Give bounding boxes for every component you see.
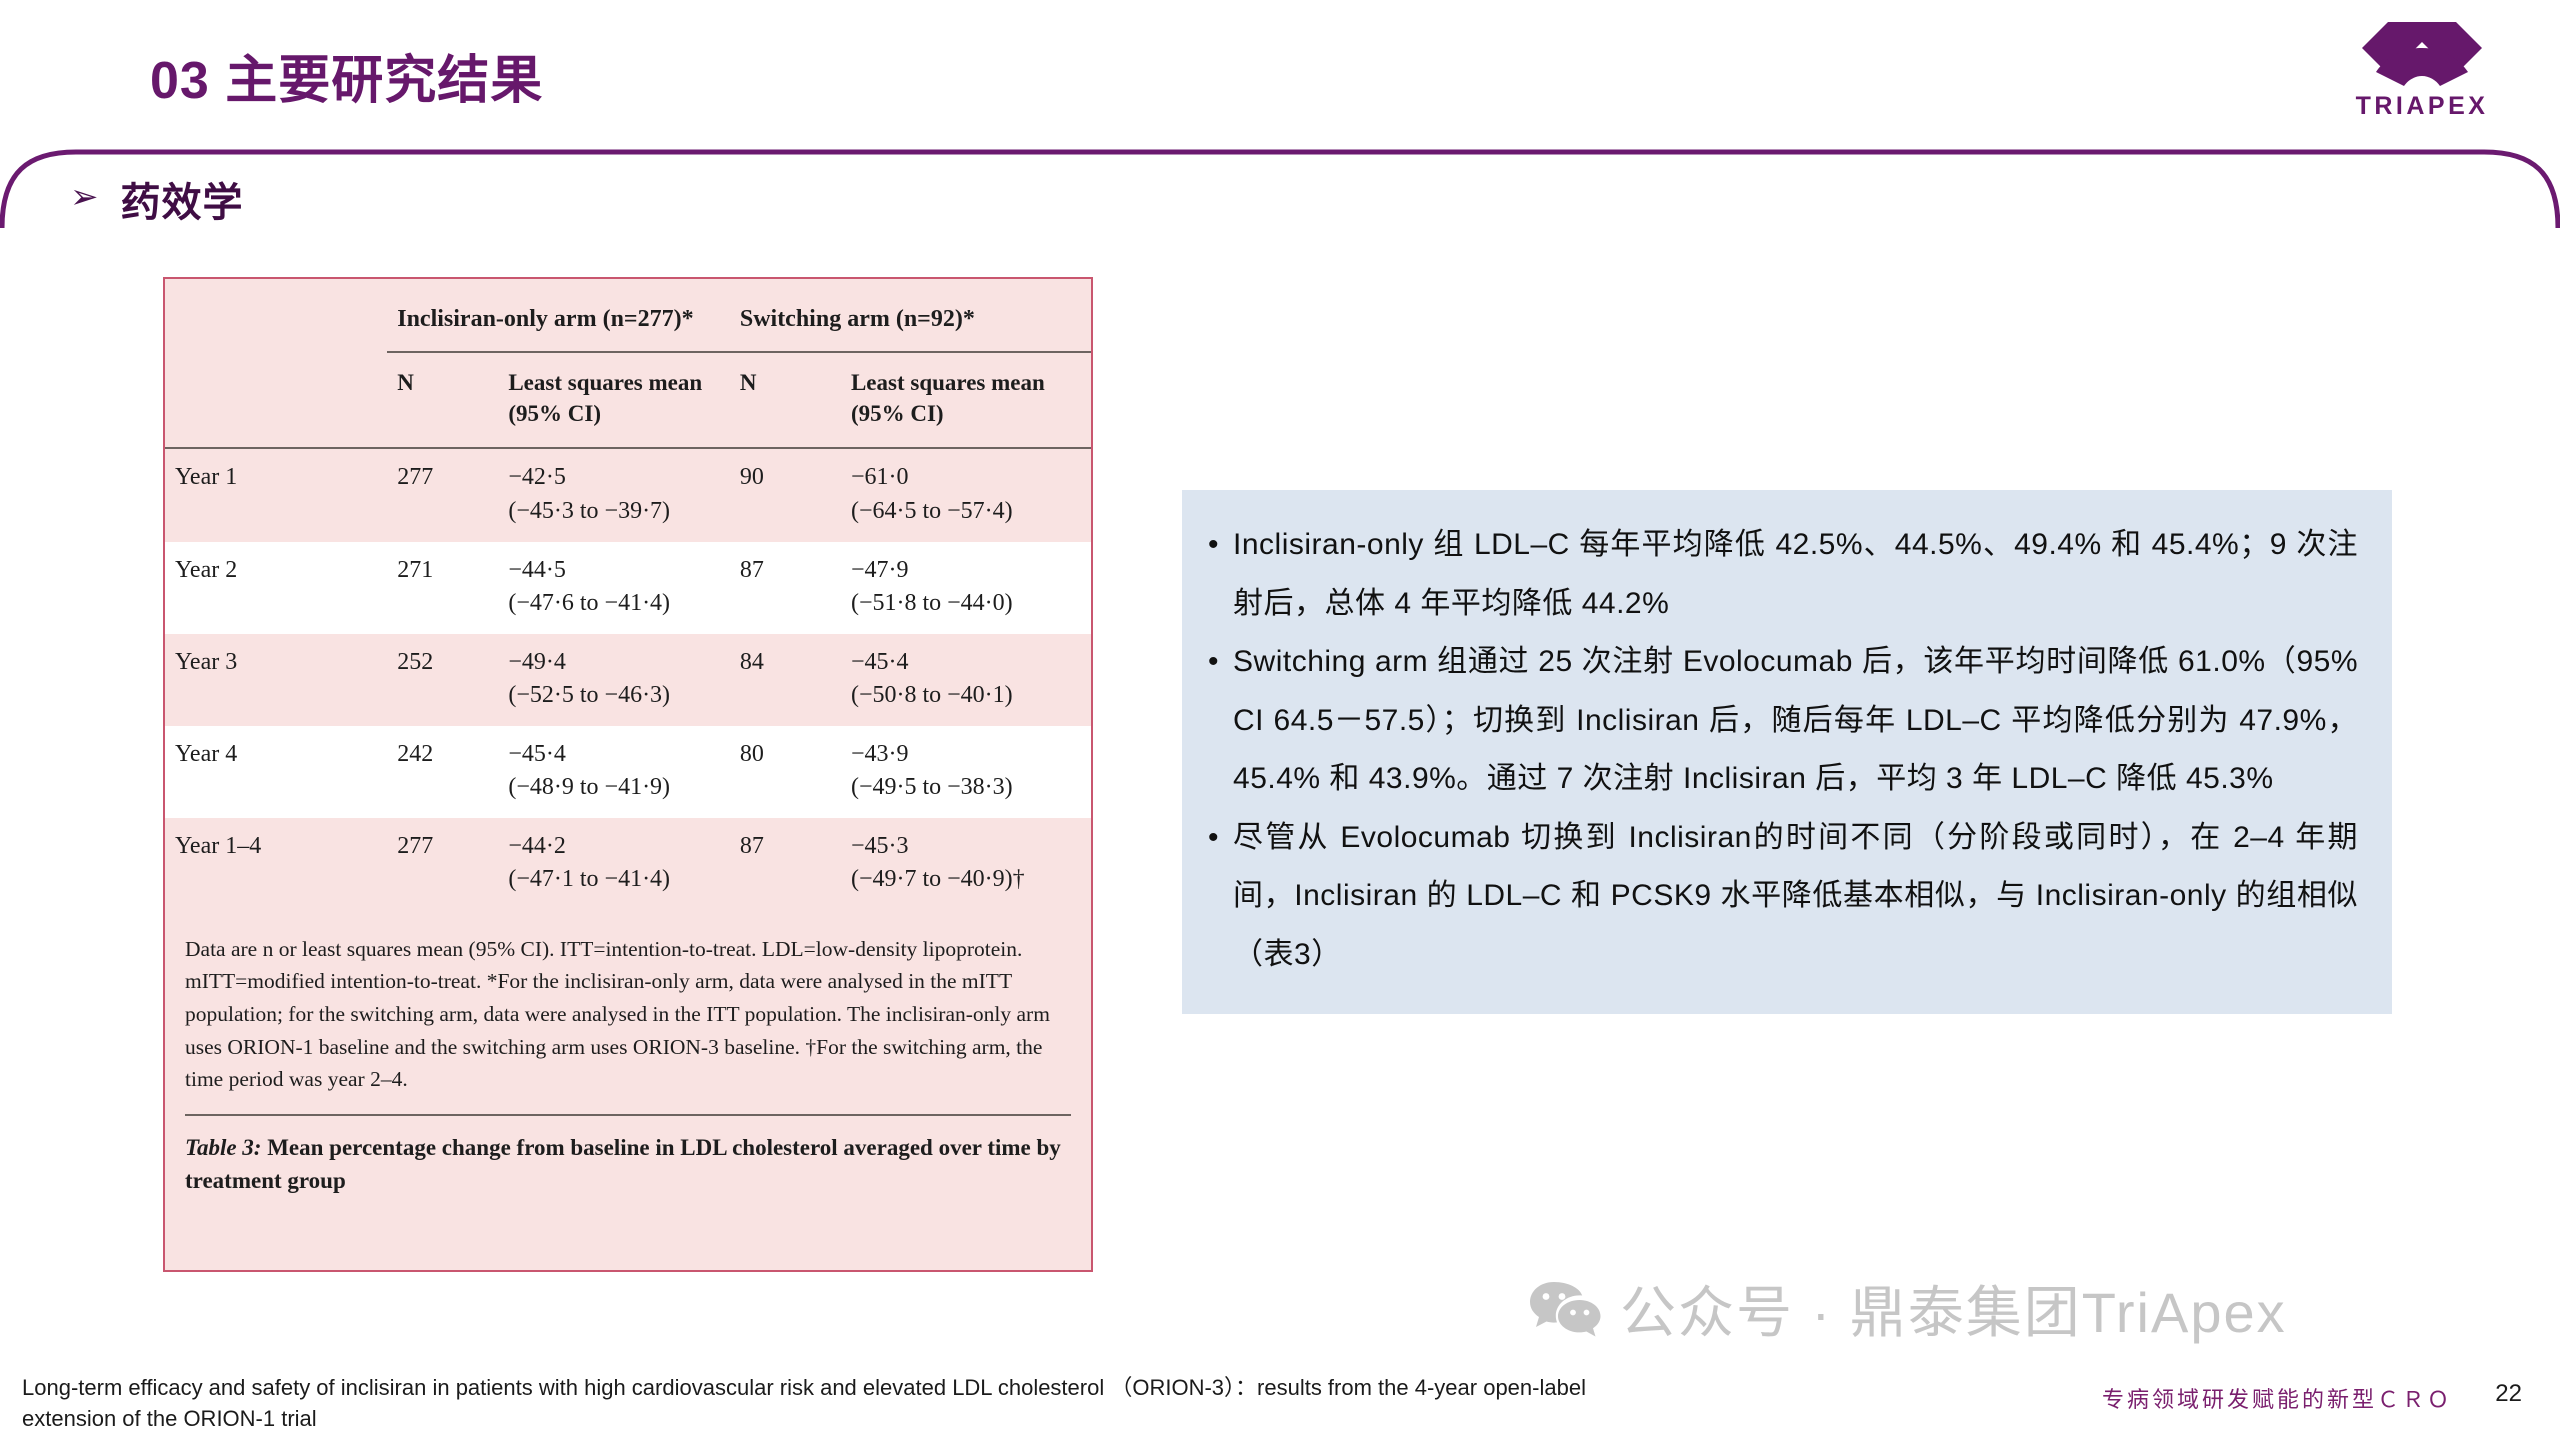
cell-n-switching: 87 xyxy=(730,542,841,634)
cell-ci-value: (−49·5 to −38·3) xyxy=(851,771,1083,804)
watermark-text: 公众号 · 鼎泰集团TriApex xyxy=(1620,1268,2287,1349)
cell-mean-switching: −47·9 (−51·8 to −44·0) xyxy=(841,542,1091,634)
cell-ci-value: (−47·6 to −41·4) xyxy=(508,587,722,620)
finding-text: Inclisiran-only 组 LDL–C 每年平均降低 42.5%、44.… xyxy=(1233,516,2358,633)
source-citation: Long-term efficacy and safety of inclisi… xyxy=(22,1372,1622,1434)
cell-mean-value: −42·5 xyxy=(508,461,722,494)
cell-ci-value: (−49·7 to −40·9)† xyxy=(851,863,1083,896)
table-row: Year 3 252 −49·4 (−52·5 to −46·3) 84 −45… xyxy=(165,634,1091,726)
subsection-heading: ➢ 药效学 xyxy=(70,170,244,228)
cell-n-inclisiran: 277 xyxy=(387,448,498,541)
table-caption-text: Mean percentage change from baseline in … xyxy=(185,1135,1061,1193)
logo-wordmark: TRIAPEX xyxy=(2356,94,2489,119)
cell-mean-value: −49·4 xyxy=(508,646,722,679)
cell-ci-value: (−45·3 to −39·7) xyxy=(508,495,722,528)
table-row: Year 1 277 −42·5 (−45·3 to −39·7) 90 −61… xyxy=(165,448,1091,541)
page-number: 22 xyxy=(2495,1380,2522,1408)
subheader-n-inclisiran: N xyxy=(387,352,498,448)
table-footnote: Data are n or least squares mean (95% CI… xyxy=(165,911,1091,1100)
cell-mean-value: −61·0 xyxy=(851,461,1083,494)
finding-text: 尽管从 Evolocumab 切换到 Inclisiran的时间不同（分阶段或同… xyxy=(1233,809,2358,985)
table-group-header-row: Inclisiran-only arm (n=277)* Switching a… xyxy=(165,279,1091,352)
row-label: Year 3 xyxy=(165,634,387,726)
cell-n-switching: 87 xyxy=(730,818,841,910)
row-label: Year 4 xyxy=(165,726,387,818)
table-subheader-row: N Least squares mean (95% CI) N Least sq… xyxy=(165,352,1091,448)
table-3-figure: Inclisiran-only arm (n=277)* Switching a… xyxy=(163,277,1093,1272)
arrow-bullet-icon: ➢ xyxy=(70,180,99,214)
cell-ci-value: (−51·8 to −44·0) xyxy=(851,587,1083,620)
finding-text: Switching arm 组通过 25 次注射 Evolocumab 后，该年… xyxy=(1233,633,2358,809)
cell-mean-switching: −45·4 (−50·8 to −40·1) xyxy=(841,634,1091,726)
cell-mean-value: −45·4 xyxy=(851,646,1083,679)
subheader-mean-switching: Least squares mean (95% CI) xyxy=(841,352,1091,448)
cell-ci-value: (−50·8 to −40·1) xyxy=(851,679,1083,712)
subheader-n-switching: N xyxy=(730,352,841,448)
cell-mean-inclisiran: −42·5 (−45·3 to −39·7) xyxy=(498,448,730,541)
cell-mean-inclisiran: −44·5 (−47·6 to −41·4) xyxy=(498,542,730,634)
cell-n-switching: 90 xyxy=(730,448,841,541)
cell-ci-value: (−47·1 to −41·4) xyxy=(508,863,722,896)
table-caption: Table 3: Mean percentage change from bas… xyxy=(165,1116,1091,1215)
group-header-switching-arm: Switching arm (n=92)* xyxy=(730,279,1091,352)
cell-mean-switching: −43·9 (−49·5 to −38·3) xyxy=(841,726,1091,818)
cell-mean-switching: −61·0 (−64·5 to −57·4) xyxy=(841,448,1091,541)
table-row: Year 4 242 −45·4 (−48·9 to −41·9) 80 −43… xyxy=(165,726,1091,818)
cell-mean-value: −44·2 xyxy=(508,830,722,863)
subheader-blank xyxy=(165,352,387,448)
footer-slogan: 专病领域研发赋能的新型ＣＲＯ xyxy=(2102,1382,2452,1414)
cell-mean-switching: −45·3 (−49·7 to −40·9)† xyxy=(841,818,1091,910)
cell-mean-value: −45·4 xyxy=(508,738,722,771)
cell-mean-inclisiran: −45·4 (−48·9 to −41·9) xyxy=(498,726,730,818)
list-item: • Switching arm 组通过 25 次注射 Evolocumab 后，… xyxy=(1208,633,2358,809)
bullet-icon: • xyxy=(1208,809,1219,868)
page-title: 03 主要研究结果 xyxy=(150,38,543,113)
wechat-icon xyxy=(1528,1278,1602,1340)
group-header-inclisiran-only: Inclisiran-only arm (n=277)* xyxy=(387,279,730,352)
list-item: • Inclisiran-only 组 LDL–C 每年平均降低 42.5%、4… xyxy=(1208,516,2358,633)
cell-ci-value: (−48·9 to −41·9) xyxy=(508,771,722,804)
cell-mean-inclisiran: −49·4 (−52·5 to −46·3) xyxy=(498,634,730,726)
cell-n-inclisiran: 242 xyxy=(387,726,498,818)
wechat-watermark: 公众号 · 鼎泰集团TriApex xyxy=(1528,1268,2287,1349)
header-divider xyxy=(0,140,2560,230)
key-findings-panel: • Inclisiran-only 组 LDL–C 每年平均降低 42.5%、4… xyxy=(1182,490,2392,1014)
cell-mean-value: −44·5 xyxy=(508,554,722,587)
table-row: Year 2 271 −44·5 (−47·6 to −41·4) 87 −47… xyxy=(165,542,1091,634)
row-label: Year 1 xyxy=(165,448,387,541)
cell-ci-value: (−64·5 to −57·4) xyxy=(851,495,1083,528)
cell-n-switching: 84 xyxy=(730,634,841,726)
row-label: Year 2 xyxy=(165,542,387,634)
table-caption-label: Table 3: xyxy=(185,1135,261,1160)
list-item: • 尽管从 Evolocumab 切换到 Inclisiran的时间不同（分阶段… xyxy=(1208,809,2358,985)
group-header-spacer xyxy=(165,279,387,352)
triapex-mark-icon xyxy=(2358,18,2486,90)
cell-mean-value: −45·3 xyxy=(851,830,1083,863)
row-label: Year 1–4 xyxy=(165,818,387,910)
cell-n-inclisiran: 271 xyxy=(387,542,498,634)
cell-ci-value: (−52·5 to −46·3) xyxy=(508,679,722,712)
cell-n-switching: 80 xyxy=(730,726,841,818)
cell-n-inclisiran: 252 xyxy=(387,634,498,726)
bullet-icon: • xyxy=(1208,633,1219,692)
cell-n-inclisiran: 277 xyxy=(387,818,498,910)
cell-mean-value: −43·9 xyxy=(851,738,1083,771)
cell-mean-inclisiran: −44·2 (−47·1 to −41·4) xyxy=(498,818,730,910)
triapex-logo: TRIAPEX xyxy=(2322,18,2522,128)
bullet-icon: • xyxy=(1208,516,1219,575)
cell-mean-value: −47·9 xyxy=(851,554,1083,587)
subsection-label: 药效学 xyxy=(121,170,244,228)
table-row: Year 1–4 277 −44·2 (−47·1 to −41·4) 87 −… xyxy=(165,818,1091,910)
subheader-mean-inclisiran: Least squares mean (95% CI) xyxy=(498,352,730,448)
results-table: Inclisiran-only arm (n=277)* Switching a… xyxy=(165,279,1091,911)
